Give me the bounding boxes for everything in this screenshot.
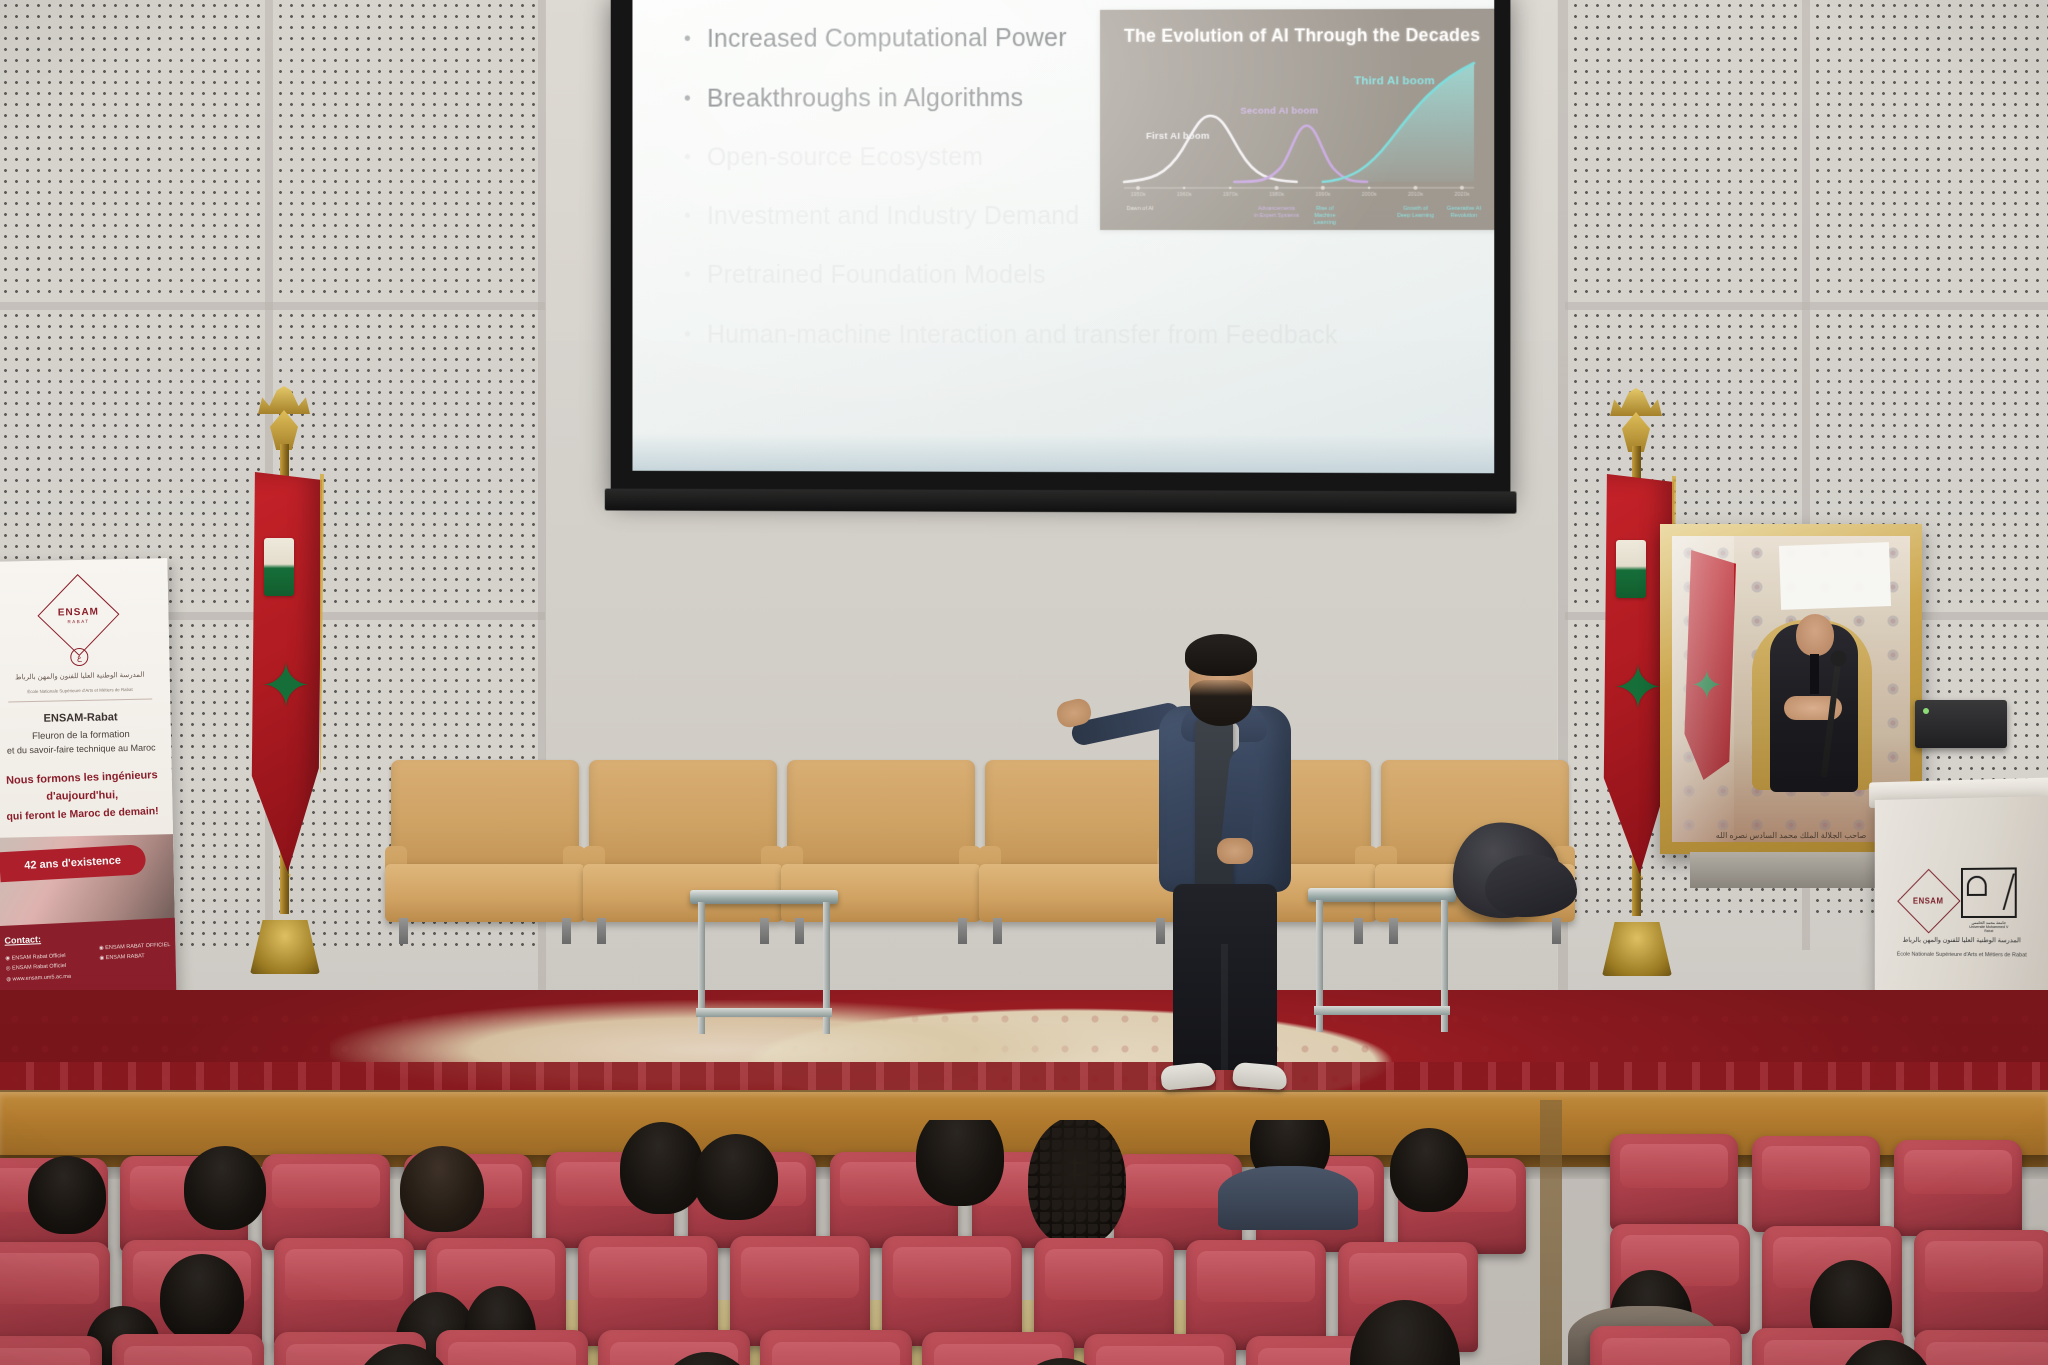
banner-ensam-logo: ENSAM RABAT — [37, 574, 119, 656]
seat-cushion — [1925, 1241, 2043, 1292]
annotation-second-ai-boom: Second AI boom — [1240, 106, 1318, 117]
seat-cushion — [448, 1342, 576, 1365]
series-second-ai-boom — [1234, 126, 1367, 182]
audience-shoulders — [1218, 1166, 1358, 1230]
chart-svg — [1100, 9, 1494, 230]
audience-head — [916, 1120, 1004, 1206]
flag-tassel — [264, 538, 294, 596]
banner-org-name: ENSAM-Rabat — [0, 710, 171, 726]
seat-cushion — [272, 1164, 380, 1208]
slide-bullet-5: • Pretrained Foundation Models — [684, 260, 1112, 291]
x-tick-label: 1990s — [1315, 192, 1330, 198]
audience-head — [620, 1122, 704, 1214]
power-led-icon — [1923, 708, 1929, 714]
banner-contact-yt: ◉ ENSAM RABAT — [99, 950, 171, 964]
auditorium-seat — [1084, 1334, 1236, 1365]
podium-school-ar: المدرسة الوطنية العليا للفنون والمهن بال… — [1890, 936, 2034, 945]
banner-slogan-2: d'aujourd'hui, — [0, 788, 172, 804]
bullet-dot-icon: • — [684, 260, 691, 290]
auditorium-seat — [1894, 1140, 2022, 1236]
slide-bullet-text: Open-source Ecosystem — [707, 142, 983, 173]
audience-head — [400, 1146, 484, 1232]
podium-school-fr: École Nationale Supérieure d'Arts et Mét… — [1890, 952, 2034, 961]
seat-cushion — [772, 1342, 900, 1365]
auditorium-seat — [0, 1336, 102, 1365]
banner-arabic-line: المدرسة الوطنية العليا للفنون والمهن بال… — [0, 670, 162, 684]
auditorium-seat — [1914, 1230, 2048, 1340]
flag-base — [1602, 922, 1672, 976]
presenter-hand-right — [1217, 838, 1253, 864]
auditorium-seat — [1610, 1134, 1738, 1230]
ensam-rollup-banner: ENSAM RABAT ع المدرسة الوطنية العليا للف… — [0, 558, 177, 1012]
seat-cushion — [1045, 1249, 1163, 1300]
projection-screen-frame: • Massive Data Availability • Increased … — [611, 0, 1511, 497]
x-tick-label: 1950s — [1130, 192, 1145, 198]
armchair — [385, 760, 585, 950]
era-label-generative-ai: Generative AI Revolution — [1447, 206, 1481, 220]
side-table-shelf — [696, 1008, 832, 1017]
armchair-legs — [399, 918, 571, 944]
acoustic-panel-left-1 — [0, 0, 262, 300]
slide-bullet-text: Pretrained Foundation Models — [707, 260, 1046, 291]
presentation-slide: • Massive Data Availability • Increased … — [632, 0, 1494, 473]
pentagram-star-icon: ✦ — [260, 662, 314, 716]
presenter-beard — [1190, 680, 1252, 726]
armchair-back — [787, 760, 975, 872]
auditorium-seat — [760, 1330, 912, 1365]
seat-cushion — [1197, 1251, 1315, 1302]
pentagram-star-icon: ✦ — [1612, 664, 1666, 718]
podium-logo-row: ENSAM جامعة محمد الخامس Université Moham… — [1890, 867, 2034, 933]
banner-logo-text: ENSAM — [58, 606, 99, 618]
seat-cushion — [1620, 1144, 1728, 1188]
projection-screen: • Massive Data Availability • Increased … — [632, 0, 1494, 473]
era-label-dawn-of-ai: Dawn of AI — [1127, 206, 1154, 213]
audience-head — [28, 1156, 106, 1234]
bullet-dot-icon: • — [684, 201, 691, 231]
auditorium-seat — [1914, 1330, 2048, 1365]
era-label-expert-systems: Advancements in Expert Systems — [1254, 206, 1299, 220]
um5-logo-icon — [1961, 867, 2017, 918]
armchair-seat — [385, 864, 585, 922]
conference-hall-photo: • Massive Data Availability • Increased … — [0, 0, 2048, 1365]
podium-ensam-logo: ENSAM — [1897, 868, 1960, 933]
bullet-dot-icon: • — [684, 319, 691, 349]
audience-seating — [0, 1120, 2048, 1365]
seat-cushion — [1926, 1342, 2048, 1365]
audience-head — [184, 1146, 266, 1230]
portrait-glare — [1779, 542, 1891, 610]
presenter-person — [1085, 640, 1355, 1110]
podium-logo-group: ENSAM جامعة محمد الخامس Université Moham… — [1890, 867, 2034, 960]
auditorium-seat — [436, 1330, 588, 1365]
facebook-icon: ◉ — [5, 956, 10, 962]
presenter-hair — [1185, 634, 1257, 676]
instagram-icon: ◎ — [6, 966, 11, 972]
glass-side-table — [690, 890, 838, 1040]
banner-divider — [8, 699, 152, 703]
carpet-border — [0, 1062, 2048, 1092]
portrait-tie — [1810, 654, 1819, 694]
x-tick-label: 2010s — [1408, 192, 1423, 198]
banner-slogan-3: qui feront le Maroc de demain! — [0, 805, 173, 824]
screen-bottom-band — [632, 433, 1494, 473]
era-label-deep-learning: Growth of Deep Learning — [1397, 206, 1434, 220]
auditorium-seat — [262, 1154, 390, 1250]
era-label-machine-learning: Rise of Machine Learning — [1314, 206, 1336, 227]
slide-bullet-2: • Breakthroughs in Algorithms — [684, 82, 1112, 114]
acoustic-panel-right-1 — [1570, 0, 1800, 300]
seat-cushion — [741, 1247, 859, 1298]
panel-seam-h3 — [1565, 302, 2048, 310]
pentagram-star-icon: ✦ — [1690, 670, 1724, 702]
audience-head — [694, 1134, 778, 1220]
seat-cushion — [1124, 1164, 1232, 1208]
series-first-ai-boom — [1124, 116, 1297, 182]
slide-bullet-list: • Massive Data Availability • Increased … — [684, 0, 1112, 379]
ai-evolution-chart: The Evolution of AI Through the Decades — [1100, 9, 1494, 230]
seat-cushion — [1349, 1253, 1467, 1304]
banner-badge-text: 42 ans d'existence — [24, 855, 121, 872]
seat-cushion — [124, 1346, 252, 1365]
podium-logo-text: ENSAM — [1913, 896, 1944, 905]
banner-contact-web: ◍ www.ensam.um5.ac.ma — [6, 972, 71, 985]
slide-bullet-text: Increased Computational Power — [707, 23, 1067, 55]
auditorium-seat — [882, 1236, 1022, 1346]
acoustic-panel-left-4 — [275, 0, 537, 300]
slide-bullet-text: Investment and Industry Demand — [707, 201, 1080, 232]
flag-tassel — [1616, 540, 1646, 598]
bullet-dot-icon: • — [684, 83, 691, 113]
slide-bullet-1: • Increased Computational Power — [684, 23, 1112, 55]
banner-slogan-1: Nous formons les ingénieurs — [0, 769, 172, 788]
slide-bullet-6: • Human-machine Interaction and transfer… — [684, 319, 1112, 351]
audience-head — [1028, 1120, 1126, 1246]
banner-logo-seal-icon: ع — [70, 648, 88, 666]
auditorium-seat — [112, 1334, 264, 1365]
x-tick-label: 1970s — [1223, 192, 1238, 198]
annotation-third-ai-boom: Third AI boom — [1354, 75, 1435, 87]
seat-cushion — [285, 1249, 403, 1300]
x-tick-label: 1980s — [1269, 192, 1284, 198]
banner-arabic-sub: École Nationale Supérieure d'Arts et Mét… — [0, 686, 164, 696]
x-tick-label: 2000s — [1361, 192, 1376, 198]
moroccan-flag-left: ✦ — [240, 410, 332, 970]
armchair-back — [589, 760, 777, 872]
globe-icon: ◍ — [6, 976, 11, 982]
seat-cushion — [1096, 1346, 1224, 1365]
x-tick-label: 2020s — [1454, 192, 1469, 198]
banner-tagline-2: et du savoir-faire technique au Maroc — [0, 742, 171, 756]
portrait-face — [1796, 614, 1834, 656]
armchair-back — [391, 760, 579, 872]
slide-bullet-text: Breakthroughs in Algorithms — [707, 83, 1023, 115]
audio-amplifier — [1915, 700, 2007, 748]
flag-base — [250, 920, 320, 974]
podium-university-city: Rabat — [1961, 929, 2017, 933]
seat-cushion — [1762, 1146, 1870, 1190]
auditorium-seat — [1590, 1326, 1742, 1365]
side-table-top — [690, 890, 838, 904]
youtube-icon: ◉ — [99, 956, 104, 962]
slide-bullet-text: Human-machine Interaction and transfer f… — [707, 319, 1338, 351]
presenter-shoe-left — [1160, 1061, 1216, 1091]
seat-cushion — [589, 1247, 707, 1298]
audience-head — [160, 1254, 244, 1342]
panel-seam-h1 — [0, 302, 545, 310]
seat-cushion — [893, 1247, 1011, 1298]
portrait-stand — [1690, 852, 1890, 888]
bullet-dot-icon: • — [684, 142, 691, 172]
flag-cloth: ✦ — [244, 472, 322, 872]
seat-cushion — [1602, 1338, 1730, 1365]
seat-cushion — [1904, 1150, 2012, 1194]
banner-contact-title: Contact: — [4, 934, 41, 946]
auditorium-seat — [1752, 1136, 1880, 1232]
presenter-shoe-right — [1232, 1062, 1288, 1091]
banner-logo-sub: RABAT — [67, 618, 89, 623]
draped-coat-fold — [1485, 855, 1577, 917]
annotation-first-ai-boom: First AI boom — [1146, 131, 1210, 142]
bullet-dot-icon: • — [684, 24, 691, 54]
audience-head — [1390, 1128, 1468, 1212]
presenter-legs — [1173, 884, 1277, 1070]
seat-cushion — [0, 1253, 99, 1304]
x-tick-label: 1960s — [1177, 192, 1192, 198]
slide-bullet-3: • Open-source Ecosystem — [684, 142, 1112, 174]
acoustic-panel-right-4 — [1812, 0, 2048, 300]
banner-tagline-1: Fleuron de la formation — [0, 728, 171, 743]
seat-cushion — [0, 1348, 90, 1365]
slide-bullet-4: • Investment and Industry Demand — [684, 201, 1112, 232]
linkedin-icon: ◉ — [99, 945, 104, 951]
